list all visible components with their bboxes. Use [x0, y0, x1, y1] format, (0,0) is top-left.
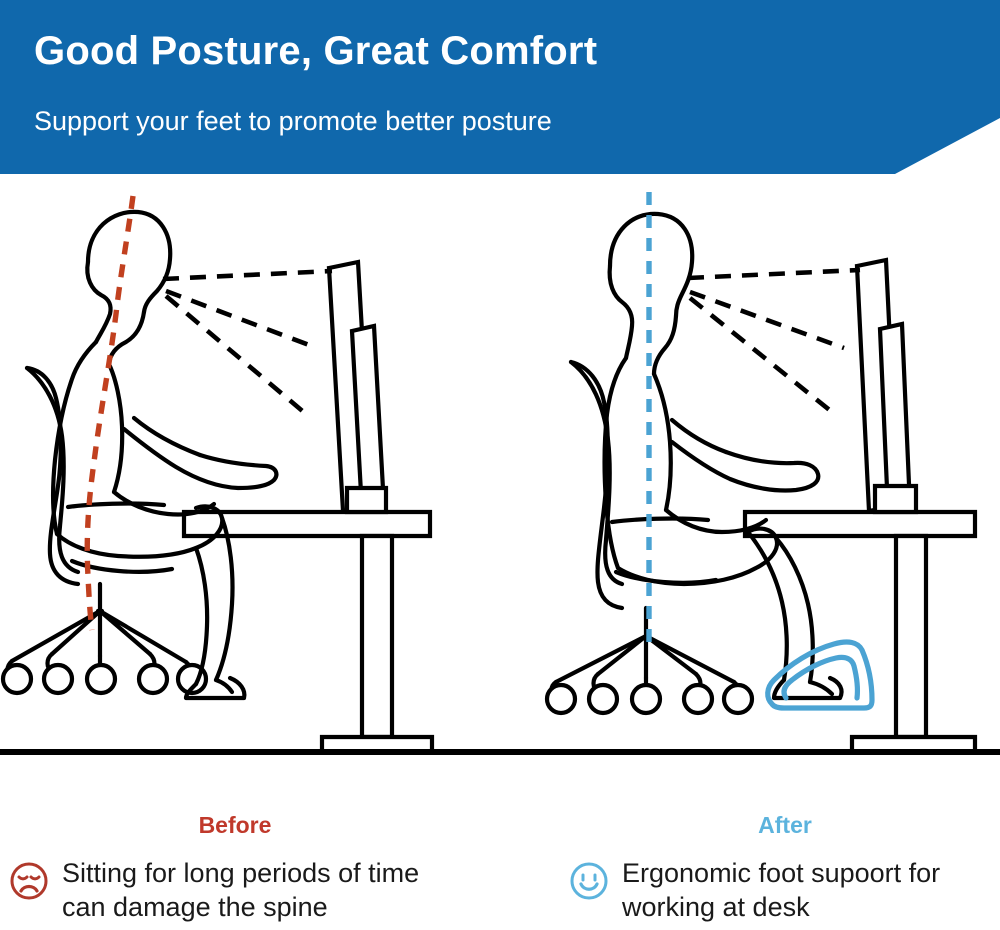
panel-label-after: After	[680, 812, 890, 839]
header-banner: Good Posture, Great Comfort Support your…	[0, 0, 1000, 174]
after-desk	[745, 512, 975, 752]
panel-label-before: Before	[130, 812, 340, 839]
after-illustration	[547, 192, 975, 752]
page-title: Good Posture, Great Comfort	[34, 29, 597, 74]
happy-face-icon	[568, 860, 610, 907]
before-posture-line	[87, 196, 133, 630]
after-sight-lines	[688, 270, 860, 412]
after-person	[605, 214, 842, 698]
before-illustration	[3, 196, 432, 752]
posture-comparison-illustration: .ln { fill:none; stroke:#000; stroke-wid…	[0, 174, 1000, 762]
after-monitor	[857, 260, 916, 512]
caption-text-before: Sitting for long periods of time can dam…	[62, 856, 419, 924]
caption-text-after: Ergonomic foot supoort for working at de…	[622, 856, 940, 924]
before-sight-lines	[163, 271, 332, 414]
page-subtitle: Support your feet to promote better post…	[34, 106, 552, 137]
before-chair	[3, 368, 206, 693]
infographic-page: Good Posture, Great Comfort Support your…	[0, 0, 1000, 930]
caption-after: Ergonomic foot supoort for working at de…	[568, 856, 940, 924]
illustration-area: .ln { fill:none; stroke:#000; stroke-wid…	[0, 174, 1000, 762]
before-monitor	[329, 262, 386, 512]
before-desk	[184, 512, 432, 752]
sad-face-icon	[8, 860, 50, 907]
caption-before: Sitting for long periods of time can dam…	[8, 856, 419, 924]
